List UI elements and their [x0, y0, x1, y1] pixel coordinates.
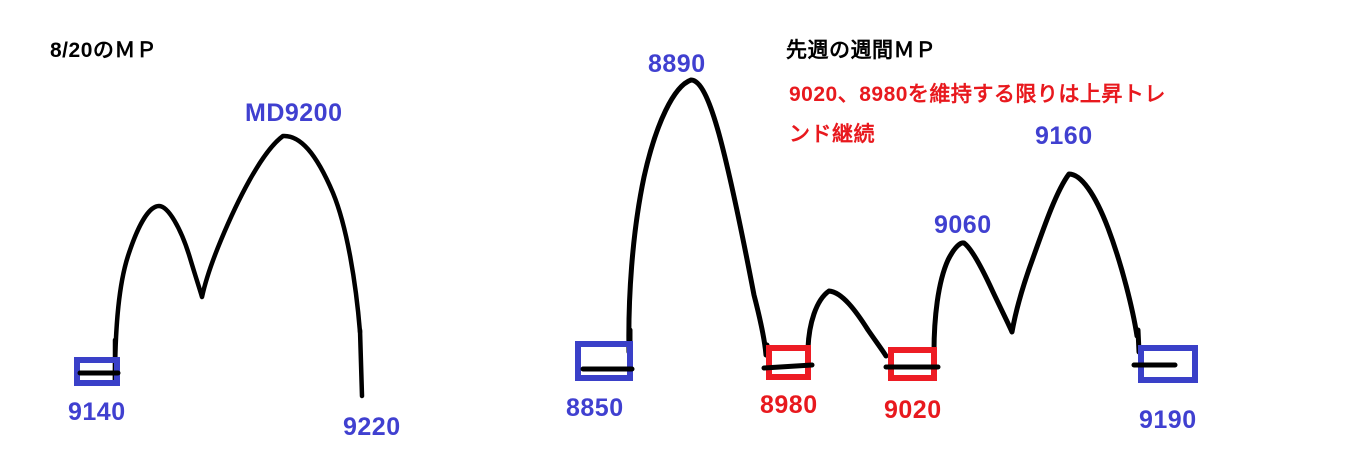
- right-peak-8890-curve: [629, 80, 766, 355]
- value-box-8980[interactable]: [766, 345, 811, 380]
- left-profile-tail: [360, 330, 362, 396]
- value-box-9140[interactable]: [74, 357, 120, 386]
- right-chart-peak-label-9060: 9060: [934, 213, 992, 238]
- drawing-canvas: 8/20のＭＰ MD9200 9140 9220 先週の週間ＭＰ 9020、89…: [0, 0, 1360, 468]
- value-box-8850[interactable]: [575, 341, 633, 381]
- value-box-8850-label: 8850: [566, 396, 624, 421]
- right-chart-peak-label-8890: 8890: [648, 52, 706, 77]
- value-box-9190-label: 9190: [1139, 408, 1197, 433]
- left-chart-title: 8/20のＭＰ: [50, 40, 157, 61]
- right-chart-note-line-2: ンド継続: [789, 124, 875, 145]
- right-mid-hump-curve: [808, 291, 886, 356]
- value-box-9020-label: 9020: [884, 398, 942, 423]
- left-chart-peak-label: MD9200: [245, 101, 343, 126]
- right-chart-peak-label-9160: 9160: [1035, 124, 1093, 149]
- value-box-9020[interactable]: [888, 347, 937, 381]
- value-box-9190[interactable]: [1138, 345, 1198, 383]
- left-chart-end-label: 9220: [343, 415, 401, 440]
- right-peak-9060-9160-curve: [934, 174, 1137, 352]
- right-chart-title: 先週の週間ＭＰ: [786, 40, 937, 61]
- right-chart-note-line-1: 9020、8980を維持する限りは上昇トレ: [789, 84, 1166, 105]
- value-box-8980-label: 8980: [760, 393, 818, 418]
- value-box-9140-label: 9140: [68, 400, 126, 425]
- left-profile-curve: [115, 136, 360, 382]
